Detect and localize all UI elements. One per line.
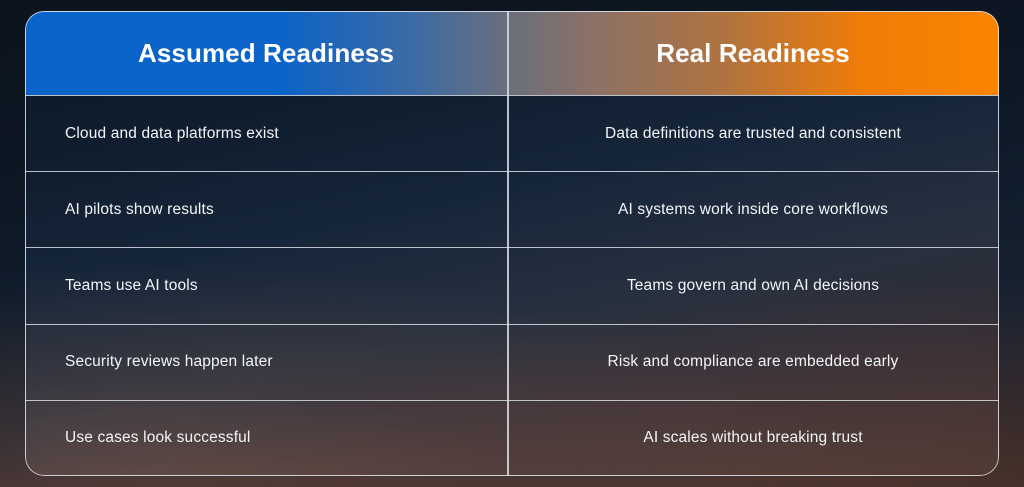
cell-assumed-4: Security reviews happen later [25,325,507,400]
cell-real-5: AI scales without breaking trust [507,401,999,476]
cell-assumed-5: Use cases look successful [25,401,507,476]
cell-assumed-3: Teams use AI tools [25,248,507,323]
cell-real-2: AI systems work inside core workflows [507,172,999,247]
cell-real-1: Data definitions are trusted and consist… [507,96,999,171]
table-row: Use cases look successful AI scales with… [25,400,999,476]
table-body: Cloud and data platforms exist Data defi… [25,95,999,476]
cell-assumed-1: Cloud and data platforms exist [25,96,507,171]
table-row: AI pilots show results AI systems work i… [25,171,999,247]
table-header-row: Assumed Readiness Real Readiness [25,11,999,95]
page-background: Assumed Readiness Real Readiness Cloud a… [0,0,1024,487]
table-row: Security reviews happen later Risk and c… [25,324,999,400]
table-row: Cloud and data platforms exist Data defi… [25,95,999,171]
comparison-table: Assumed Readiness Real Readiness Cloud a… [25,11,999,476]
column-header-real-readiness: Real Readiness [507,11,999,95]
table-row: Teams use AI tools Teams govern and own … [25,247,999,323]
cell-real-3: Teams govern and own AI decisions [507,248,999,323]
cell-assumed-2: AI pilots show results [25,172,507,247]
column-header-assumed-readiness: Assumed Readiness [25,11,507,95]
cell-real-4: Risk and compliance are embedded early [507,325,999,400]
